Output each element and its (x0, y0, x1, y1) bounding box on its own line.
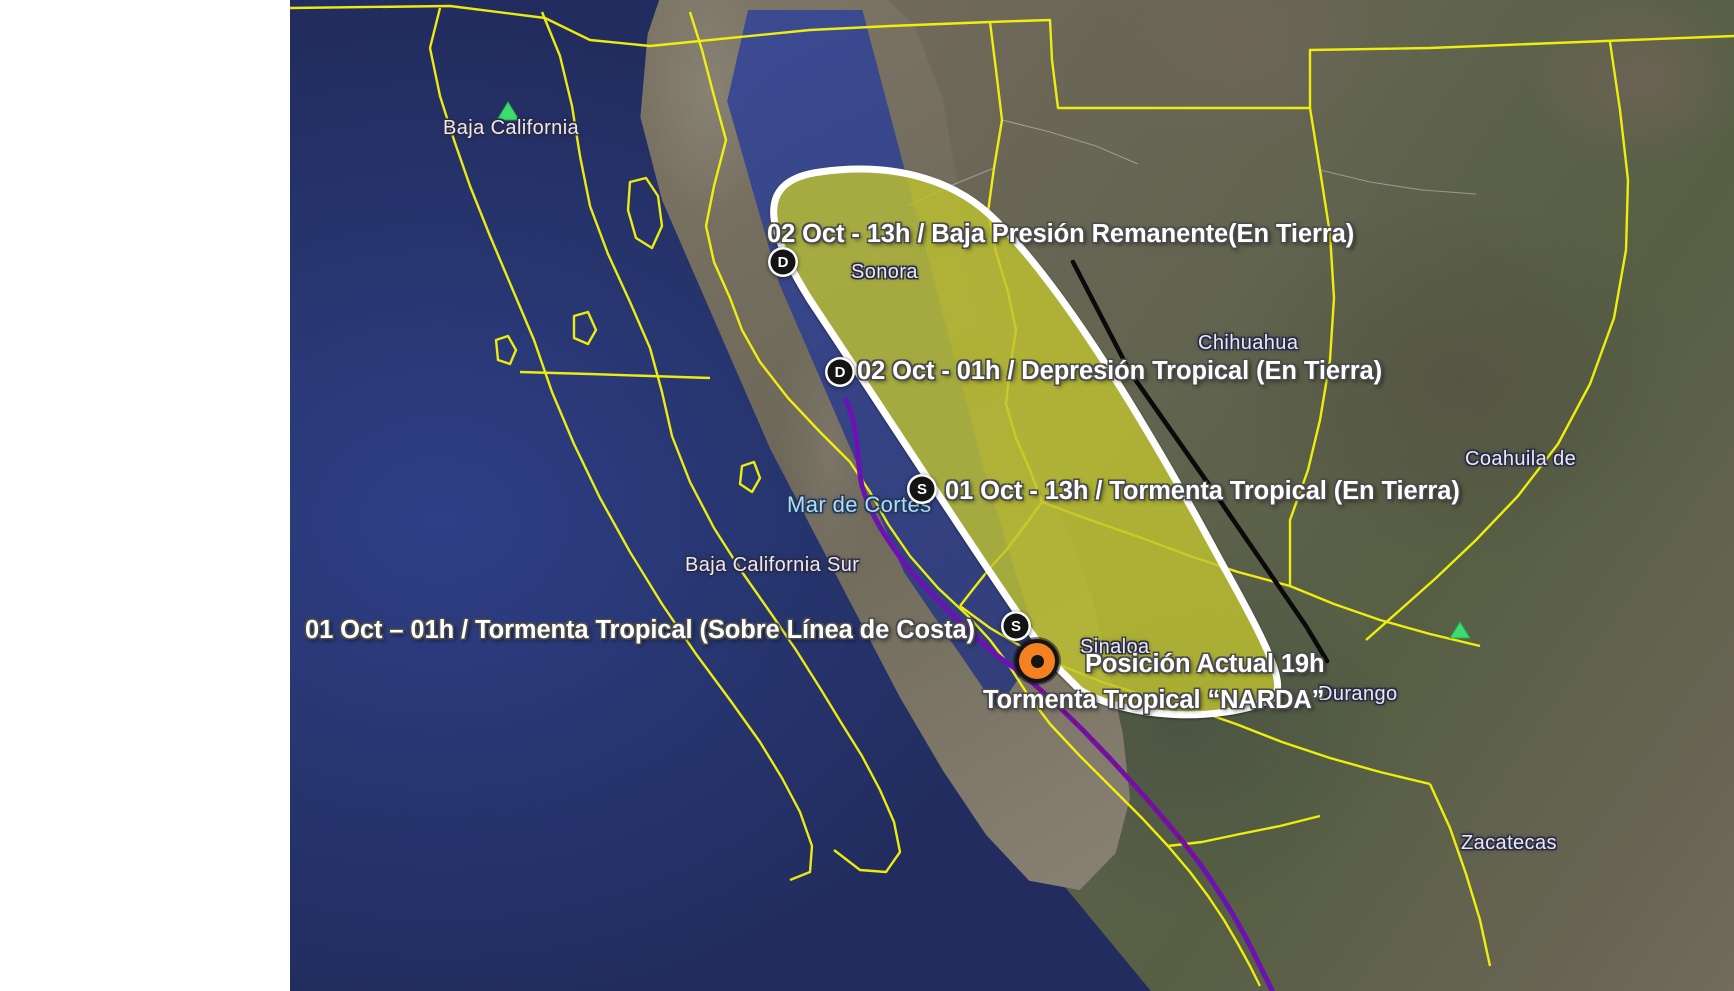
track-marker-forecast-02oct-01h[interactable]: D (825, 357, 855, 387)
storm-track-map[interactable]: Baja CaliforniaSonoraChihuahuaCoahuila d… (290, 0, 1734, 991)
current-position-marker[interactable] (1019, 643, 1055, 679)
secondary-boundaries (908, 120, 1476, 206)
map-vector-overlay (290, 0, 1734, 991)
screenshot-root: Baja CaliforniaSonoraChihuahuaCoahuila d… (0, 0, 1734, 991)
marker-symbol: D (835, 365, 846, 380)
mountain-icon (495, 100, 521, 122)
track-marker-forecast-01oct-13h[interactable]: S (907, 474, 937, 504)
track-marker-forecast-01oct-01h[interactable]: S (1001, 611, 1031, 641)
marker-symbol: S (917, 482, 927, 497)
mountain-icon-secondary (1448, 620, 1472, 640)
marker-symbol: D (778, 255, 789, 270)
left-white-margin (0, 0, 290, 991)
marker-symbol: S (1011, 619, 1021, 634)
track-marker-forecast-02oct-13h[interactable]: D (768, 247, 798, 277)
